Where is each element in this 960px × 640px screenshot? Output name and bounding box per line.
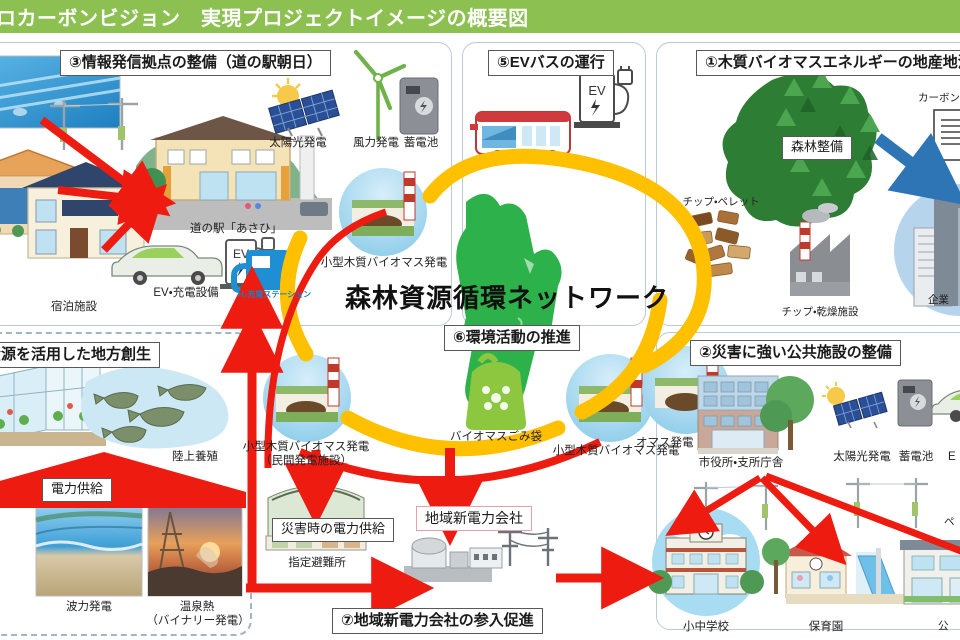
shelter-label: 指定避難所 [272,556,362,570]
biomass-label-right-edge: オマス発電 [636,436,716,450]
ev-label-s2: E [948,450,960,464]
section-7-title: ⑦地域新電力会社の参入促進 [332,608,543,634]
lodging-label: 宿泊施設 [26,300,122,314]
panel-section-2 [656,332,960,630]
panel-section-4 [0,332,252,636]
disaster-power-supply-label: 災害時の電力供給 [272,518,394,542]
power-supply-label: 電力供給 [42,478,112,502]
regional-power-company-label: 地域新電力会社 [416,506,532,531]
section-3-title: ③情報発信拠点の整備（道の駅朝日） [60,50,331,76]
public-hall-label-edge: 公 [938,620,960,633]
biomass-label-bottom-left-1: 小型木質バイオマス発電 [230,440,382,454]
panel-section-1 [656,42,960,326]
page-header: ロカーボンビジョン 実現プロジェクトイメージの概要図 [0,0,960,33]
battery-label-s3: 蓄電池 [396,136,446,150]
biomass-label-top-left: 小型木質バイオマス発電 [308,256,460,270]
chips-pellets-label: チップ・ペレット [676,196,766,209]
solar-label-s2: 太陽光発電 [824,450,900,464]
biomass-node-bottom-left [263,354,351,442]
biomass-label-bottom-left-2: （民間発電施設） [240,454,372,468]
wave-power-label: 波力発電 [44,600,134,614]
company-label: 企業 [928,294,960,307]
battery-label-s2: 蓄電池 [892,450,940,464]
biomass-garbage-bag-illustration [466,356,526,430]
network-title: 森林資源循環ネットワーク [345,278,669,315]
chip-drying-label: チップ・乾燥施設 [768,306,872,319]
onsen-facility-label: 設 [0,236,2,249]
infographic-canvas: ロカーボンビジョン 実現プロジェクトイメージの概要図 [0,0,960,640]
section-1-title: ①木質バイオマスエネルギーの地産地消 [696,50,960,76]
env-activity-box: ⑥環境活動の推進 [444,325,580,351]
pellet-label-edge: ペ [944,516,960,529]
nursery-label: 保育園 [796,620,856,634]
roadside-station-label: 道の駅「あさひ」 [176,222,296,236]
school-label: 小中学校 [666,620,746,634]
h2-station-label: H₂充電ステーション [238,290,310,300]
forest-maintenance-label: 森林整備 [782,136,852,160]
solar-label-s3: 太陽光発電 [262,136,334,150]
biomass-bag-label: バイオマスごみ袋 [416,430,576,444]
section-5-title: ⑤EVバスの運行 [488,50,614,76]
carbon-credit-label: カーボン [918,92,960,105]
geothermal-label-line1: 温泉熱 [152,600,242,614]
city-hall-label: 市役所・支所庁舎 [686,456,796,470]
ev-charge-label: EV・充電設備 [130,286,242,300]
geothermal-label-line2: （バイナリー発電） [146,614,250,628]
pool-facility-label: 施設 [0,130,14,143]
section-4-title: ネ資源を活用した地方創生 [0,342,160,368]
section-2-title: ②災害に強い公共施設の整備 [690,340,901,366]
biomass-node-bottom-right [566,354,654,442]
aquaculture-label: 陸上養殖 [150,450,240,464]
page-title: ロカーボンビジョン 実現プロジェクトイメージの概要図 [0,2,529,31]
